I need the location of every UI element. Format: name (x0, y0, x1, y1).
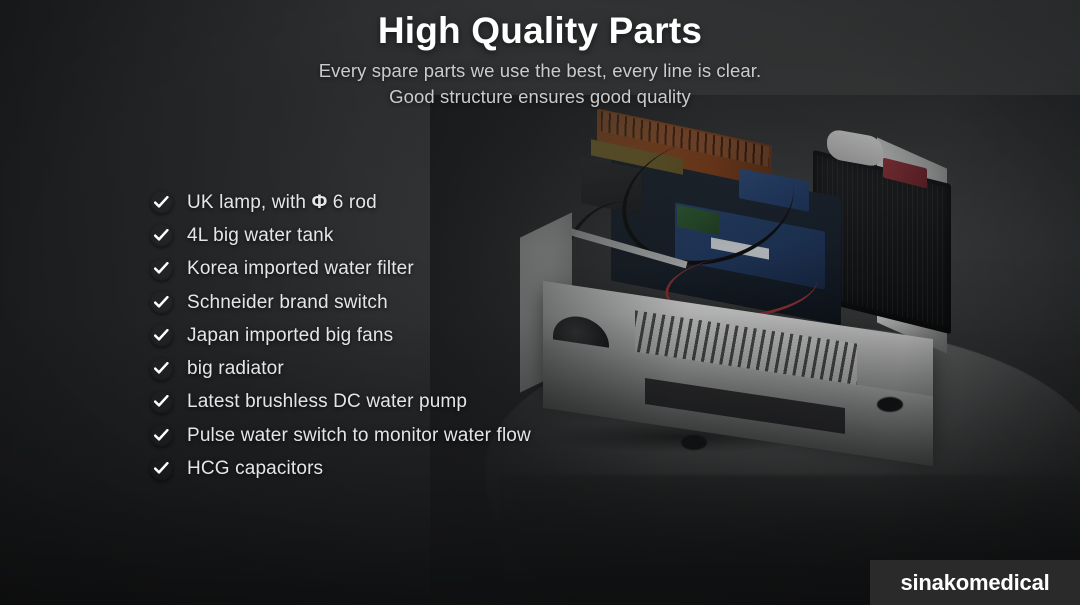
subtitle-line-1: Every spare parts we use the best, every… (0, 58, 1080, 84)
feature-label: Schneider brand switch (187, 292, 388, 314)
feature-label: Latest brushless DC water pump (187, 391, 467, 413)
slide-canvas: High Quality Parts Every spare parts we … (0, 0, 1080, 605)
watermark-plate: sinakomedical (870, 560, 1080, 605)
check-circle-icon (150, 424, 173, 447)
list-item: Latest brushless DC water pump (150, 386, 710, 419)
subtitle-line-2: Good structure ensures good quality (0, 84, 1080, 110)
list-item: Schneider brand switch (150, 286, 710, 319)
page-title: High Quality Parts (0, 10, 1080, 51)
check-circle-icon (150, 391, 173, 414)
feature-label: HCG capacitors (187, 458, 323, 480)
feature-label: 4L big water tank (187, 225, 334, 247)
list-item: 4L big water tank (150, 219, 710, 252)
feature-label: Pulse water switch to monitor water flow (187, 425, 531, 447)
check-circle-icon (150, 224, 173, 247)
check-circle-icon (150, 458, 173, 481)
feature-list: UK lamp, with Φ 6 rod 4L big water tank … (150, 186, 710, 486)
check-circle-icon (150, 358, 173, 381)
feature-label: big radiator (187, 358, 284, 380)
list-item: HCG capacitors (150, 452, 710, 485)
check-circle-icon (150, 291, 173, 314)
check-circle-icon (150, 324, 173, 347)
list-item: Japan imported big fans (150, 319, 710, 352)
feature-label: Korea imported water filter (187, 258, 414, 280)
feature-label: Japan imported big fans (187, 325, 393, 347)
check-circle-icon (150, 191, 173, 214)
feature-text-prefix: UK lamp, with (187, 192, 312, 213)
list-item: big radiator (150, 352, 710, 385)
check-circle-icon (150, 258, 173, 281)
watermark-text: sinakomedical (900, 570, 1049, 596)
feature-text-suffix: 6 rod (327, 192, 377, 213)
diameter-symbol: Φ (312, 192, 328, 213)
list-item: UK lamp, with Φ 6 rod (150, 186, 710, 219)
feature-label: UK lamp, with Φ 6 rod (187, 192, 377, 214)
list-item: Korea imported water filter (150, 253, 710, 286)
page-subtitle: Every spare parts we use the best, every… (0, 58, 1080, 111)
list-item: Pulse water switch to monitor water flow (150, 419, 710, 452)
